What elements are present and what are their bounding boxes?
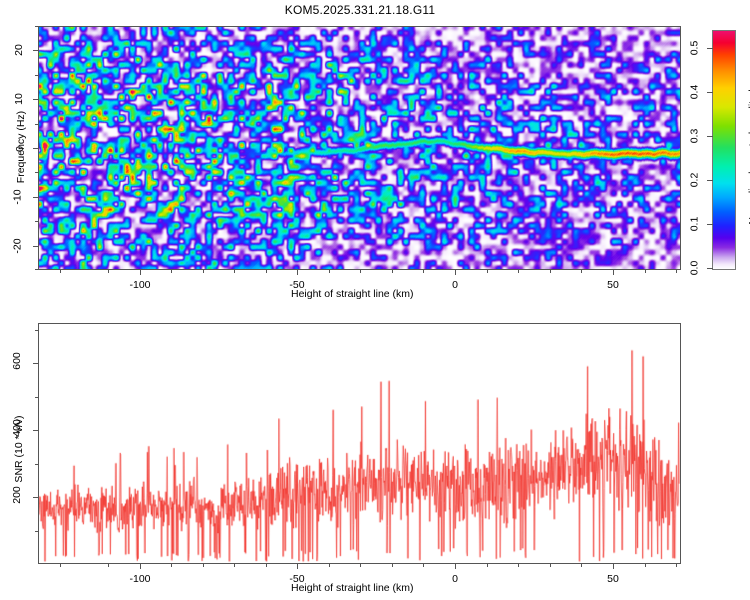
cbar-ticklabel: 0.0 xyxy=(688,261,700,276)
cbar-ticklabel: 0.1 xyxy=(688,217,700,232)
spec-xtick-minor xyxy=(487,270,488,273)
snr-xticklabel: 50 xyxy=(607,573,619,585)
snr-xtick-minor xyxy=(581,564,582,567)
spec-yticklabel: -20 xyxy=(12,238,24,253)
spec-ytick-0 xyxy=(33,148,38,149)
spec-xtick-minor xyxy=(266,270,267,273)
spec-xticklabel: 0 xyxy=(452,279,458,291)
snr-xtick-minor xyxy=(487,564,488,567)
spec-xtick-minor xyxy=(60,270,61,273)
cbar-ticklabel: 0.2 xyxy=(688,173,700,188)
cbar-ticklabel: 0.5 xyxy=(688,41,700,56)
spec-xtick-50 xyxy=(613,270,614,275)
spec-xtick-m50 xyxy=(297,270,298,275)
colorbar-gradient xyxy=(712,30,736,270)
snr-xaxis-label: Height of straight line (km) xyxy=(291,582,414,594)
spec-ytick-m20 xyxy=(33,246,38,247)
spec-ytick-minor xyxy=(35,75,38,76)
spec-xtick-minor xyxy=(676,270,677,273)
spectrogram-plot-area xyxy=(38,26,681,270)
spectrogram-image xyxy=(39,27,680,269)
snr-xtick-minor xyxy=(60,564,61,567)
spec-ytick-minor xyxy=(35,172,38,173)
cbar-tick-0.1 xyxy=(707,224,713,225)
snr-xtick-minor xyxy=(550,564,551,567)
spec-ytick-20 xyxy=(33,50,38,51)
snr-ytick-minor xyxy=(35,531,38,532)
snr-ytick-minor xyxy=(35,330,38,331)
spec-yaxis-label: Frequency (Hz) xyxy=(15,97,27,197)
snr-xtick-minor xyxy=(329,564,330,567)
snr-trace xyxy=(39,324,680,563)
figure-title: KOM5.2025.331.21.18.G11 xyxy=(0,3,720,17)
snr-xtick-50 xyxy=(613,564,614,569)
snr-yaxis-label: SNR (10 * v/v) xyxy=(13,399,25,499)
cbar-tick-0.2 xyxy=(707,180,713,181)
spec-ytick-10 xyxy=(33,99,38,100)
cbar-tick-0.3 xyxy=(707,136,713,137)
spec-xtick-m100 xyxy=(140,270,141,275)
spec-xtick-minor xyxy=(518,270,519,273)
spec-ytick-minor xyxy=(35,26,38,27)
cbar-tick-0.4 xyxy=(707,92,713,93)
snr-xtick-m100 xyxy=(140,564,141,569)
snr-ytick-400 xyxy=(33,430,38,431)
spec-xtick-minor xyxy=(360,270,361,273)
snr-xtick-minor xyxy=(423,564,424,567)
snr-xtick-m50 xyxy=(297,564,298,569)
spec-ytick-m10 xyxy=(33,197,38,198)
spec-xticklabel: 50 xyxy=(607,279,619,291)
snr-xtick-0 xyxy=(455,564,456,569)
spec-ytick-minor xyxy=(35,124,38,125)
snr-xtick-minor xyxy=(392,564,393,567)
snr-plot-area xyxy=(38,323,681,564)
snr-xticklabel: 0 xyxy=(452,573,458,585)
spec-yticklabel: 20 xyxy=(13,44,25,56)
snr-xtick-minor xyxy=(234,564,235,567)
spec-xtick-minor xyxy=(392,270,393,273)
snr-xtick-minor xyxy=(645,564,646,567)
snr-xtick-minor xyxy=(171,564,172,567)
cbar-tick-0.0 xyxy=(707,268,713,269)
figure-canvas: KOM5.2025.331.21.18.G11 -100 -50 0 50 He… xyxy=(0,0,750,600)
snr-xtick-minor xyxy=(108,564,109,567)
snr-ytick-600 xyxy=(33,363,38,364)
cbar-tick-0.5 xyxy=(707,48,713,49)
spec-xtick-minor xyxy=(171,270,172,273)
cbar-ticklabel: 0.3 xyxy=(688,129,700,144)
spec-xtick-minor xyxy=(203,270,204,273)
spec-xtick-minor xyxy=(108,270,109,273)
snr-xticklabel: -100 xyxy=(129,573,150,585)
spec-xtick-minor xyxy=(329,270,330,273)
snr-ytick-minor xyxy=(35,397,38,398)
snr-xtick-minor xyxy=(360,564,361,567)
spec-xtick-minor xyxy=(550,270,551,273)
spec-xaxis-label: Height of straight line (km) xyxy=(291,288,414,300)
spec-ytick-minor xyxy=(35,221,38,222)
spec-xtick-minor xyxy=(581,270,582,273)
snr-xtick-minor xyxy=(518,564,519,567)
spec-xtick-minor xyxy=(234,270,235,273)
snr-xtick-minor xyxy=(676,564,677,567)
spec-xtick-minor xyxy=(423,270,424,273)
snr-xtick-minor xyxy=(266,564,267,567)
snr-ytick-200 xyxy=(33,497,38,498)
spec-xticklabel: -100 xyxy=(129,279,150,291)
spec-ytick-minor xyxy=(35,269,38,270)
cbar-ticklabel: 0.4 xyxy=(688,85,700,100)
snr-xtick-minor xyxy=(203,564,204,567)
spec-xtick-0 xyxy=(455,270,456,275)
spec-xtick-minor xyxy=(645,270,646,273)
snr-ytick-minor xyxy=(35,464,38,465)
snr-yticklabel: 600 xyxy=(11,352,23,370)
